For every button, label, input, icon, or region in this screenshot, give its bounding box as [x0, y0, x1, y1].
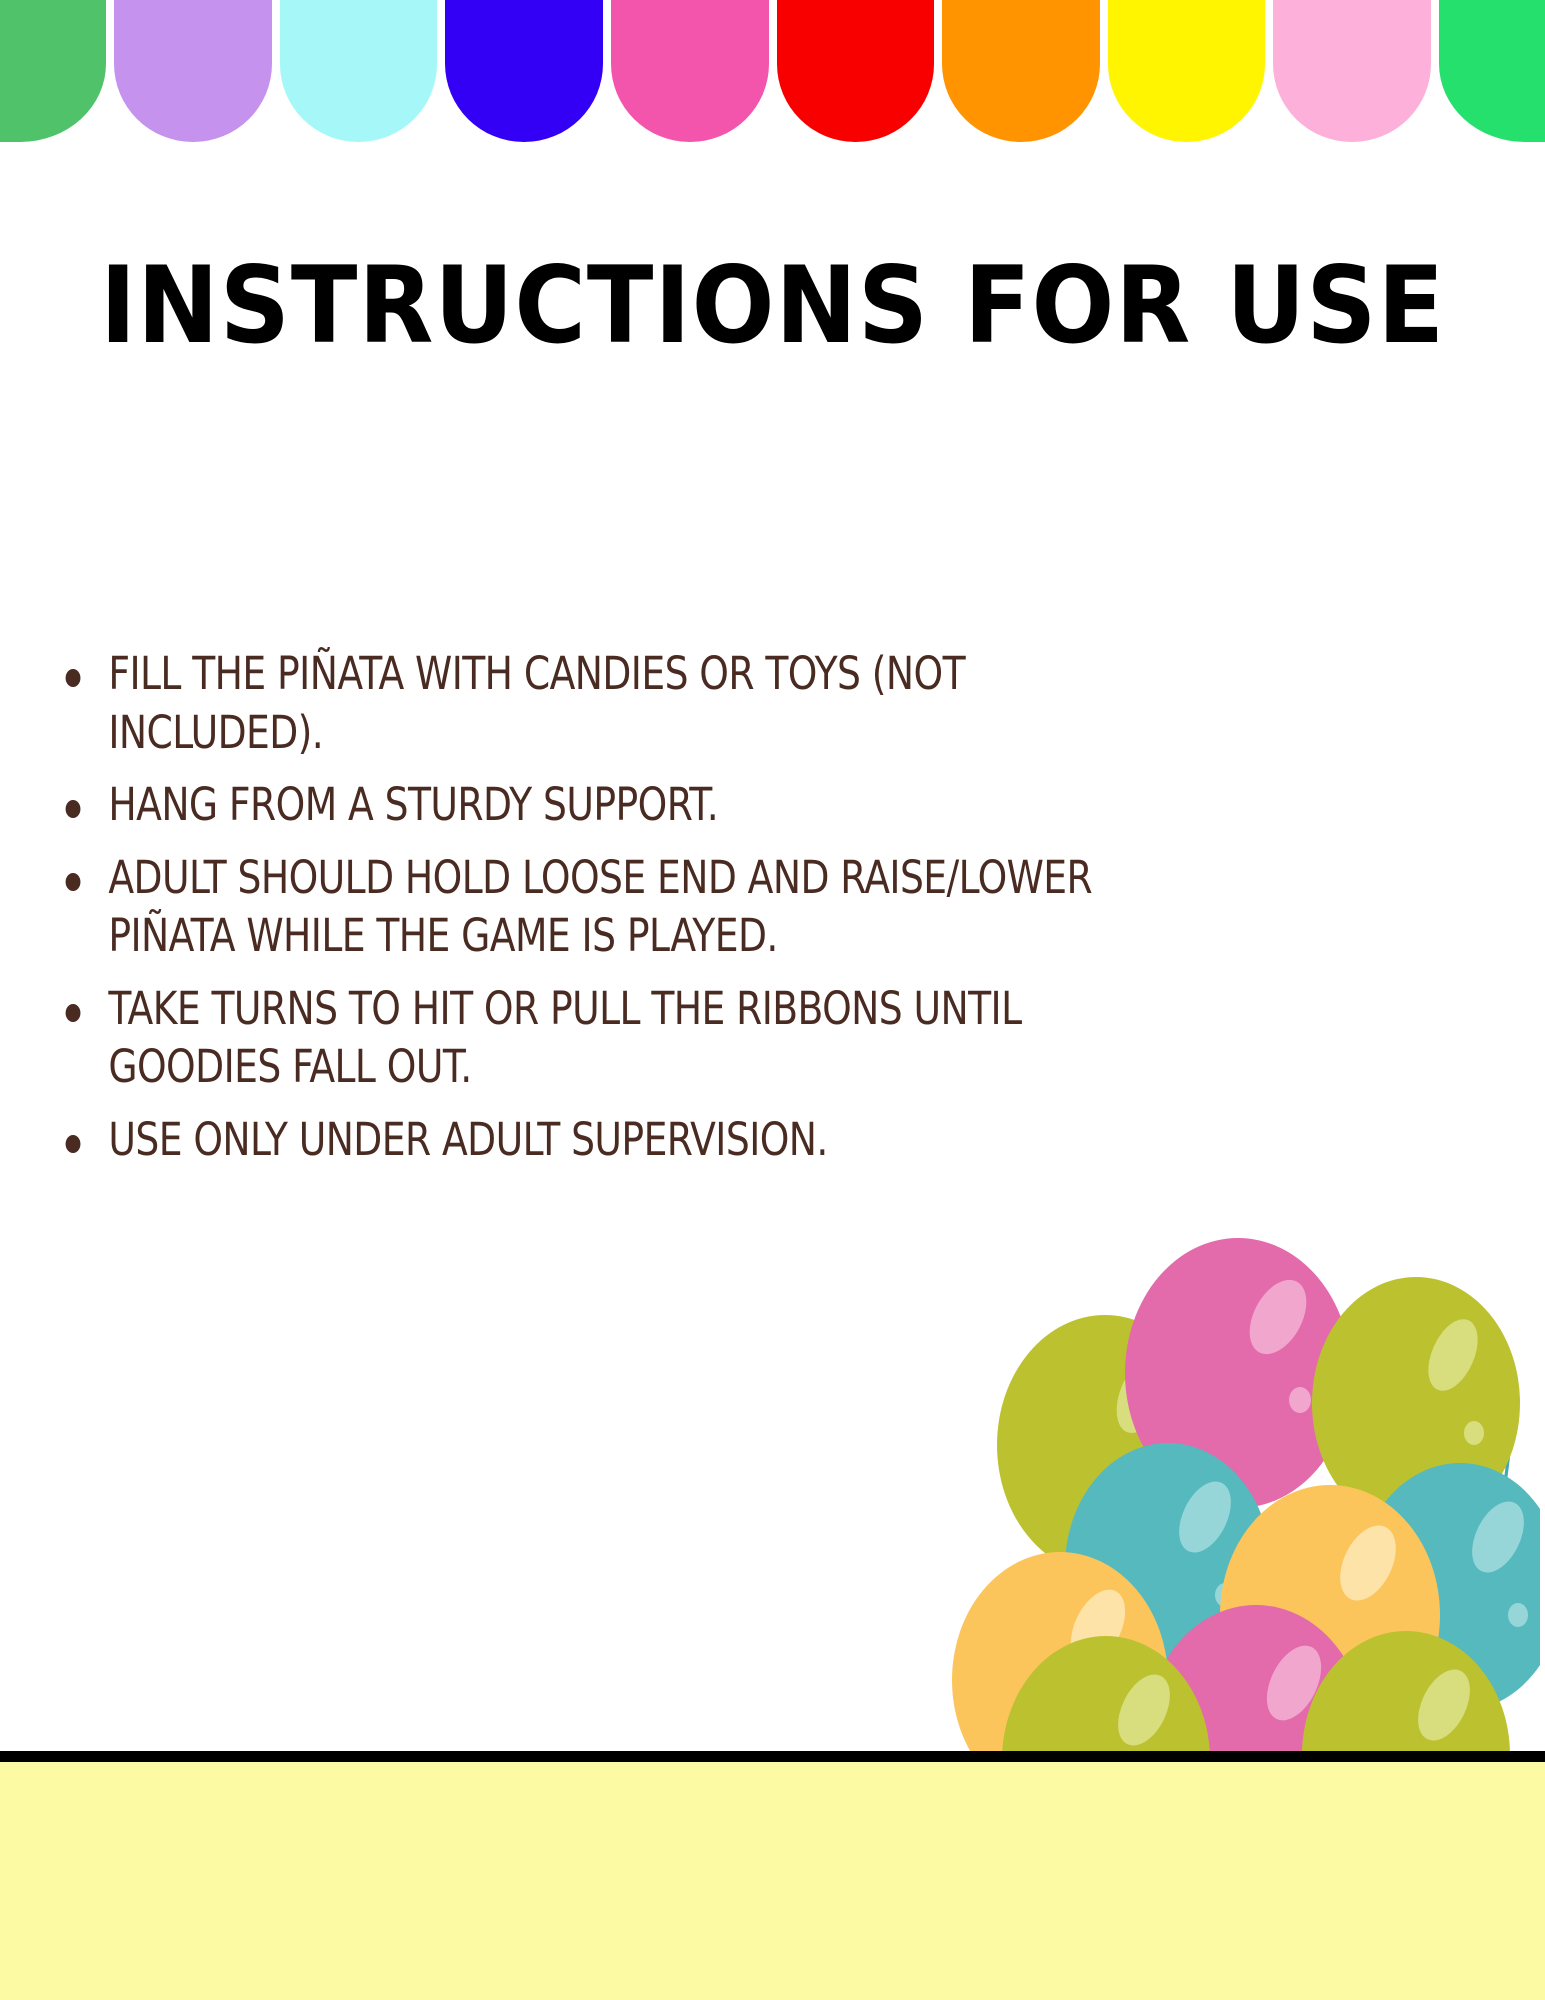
list-item-text: TAKE TURNS TO HIT OR PULL THE RIBBONS UN… — [108, 982, 1021, 1094]
bullet-dot-icon — [66, 1135, 81, 1153]
scallop-green — [0, 0, 106, 142]
page-title: INSTRUCTIONS FOR USE — [62, 250, 1483, 361]
scallop-mint-green — [1439, 0, 1545, 142]
scallop-red — [777, 0, 935, 142]
list-item-text: FILL THE PIÑATA WITH CANDIES OR TOYS (NO… — [108, 647, 965, 759]
list-item-text: ADULT SHOULD HOLD LOOSE END AND RAISE/LO… — [108, 851, 1092, 963]
list-item: ADULT SHOULD HOLD LOOSE END AND RAISE/LO… — [60, 849, 1157, 966]
list-item-text: USE ONLY UNDER ADULT SUPERVISION. — [108, 1113, 827, 1166]
list-item-text: HANG FROM A STURDY SUPPORT. — [108, 778, 718, 831]
list-item: HANG FROM A STURDY SUPPORT. — [60, 776, 1157, 835]
bullet-dot-icon — [66, 873, 81, 891]
scalloped-color-banner — [0, 0, 1545, 142]
scallop-blue — [445, 0, 603, 142]
scallop-light-pink — [1273, 0, 1431, 142]
scallop-hot-pink — [611, 0, 769, 142]
list-item: FILL THE PIÑATA WITH CANDIES OR TOYS (NO… — [60, 645, 1157, 762]
bullet-dot-icon — [66, 1004, 81, 1022]
poster-page: INSTRUCTIONS FOR USE FILL THE PIÑATA WIT… — [0, 0, 1545, 2000]
scallop-lavender — [114, 0, 272, 142]
scallop-aqua — [280, 0, 438, 142]
bottom-divider-rule — [0, 1751, 1545, 1762]
bullet-dot-icon — [66, 669, 81, 687]
bottom-yellow-band — [0, 1762, 1545, 2000]
scallop-orange — [942, 0, 1100, 142]
scallop-yellow — [1108, 0, 1266, 142]
bullet-dot-icon — [66, 800, 81, 818]
